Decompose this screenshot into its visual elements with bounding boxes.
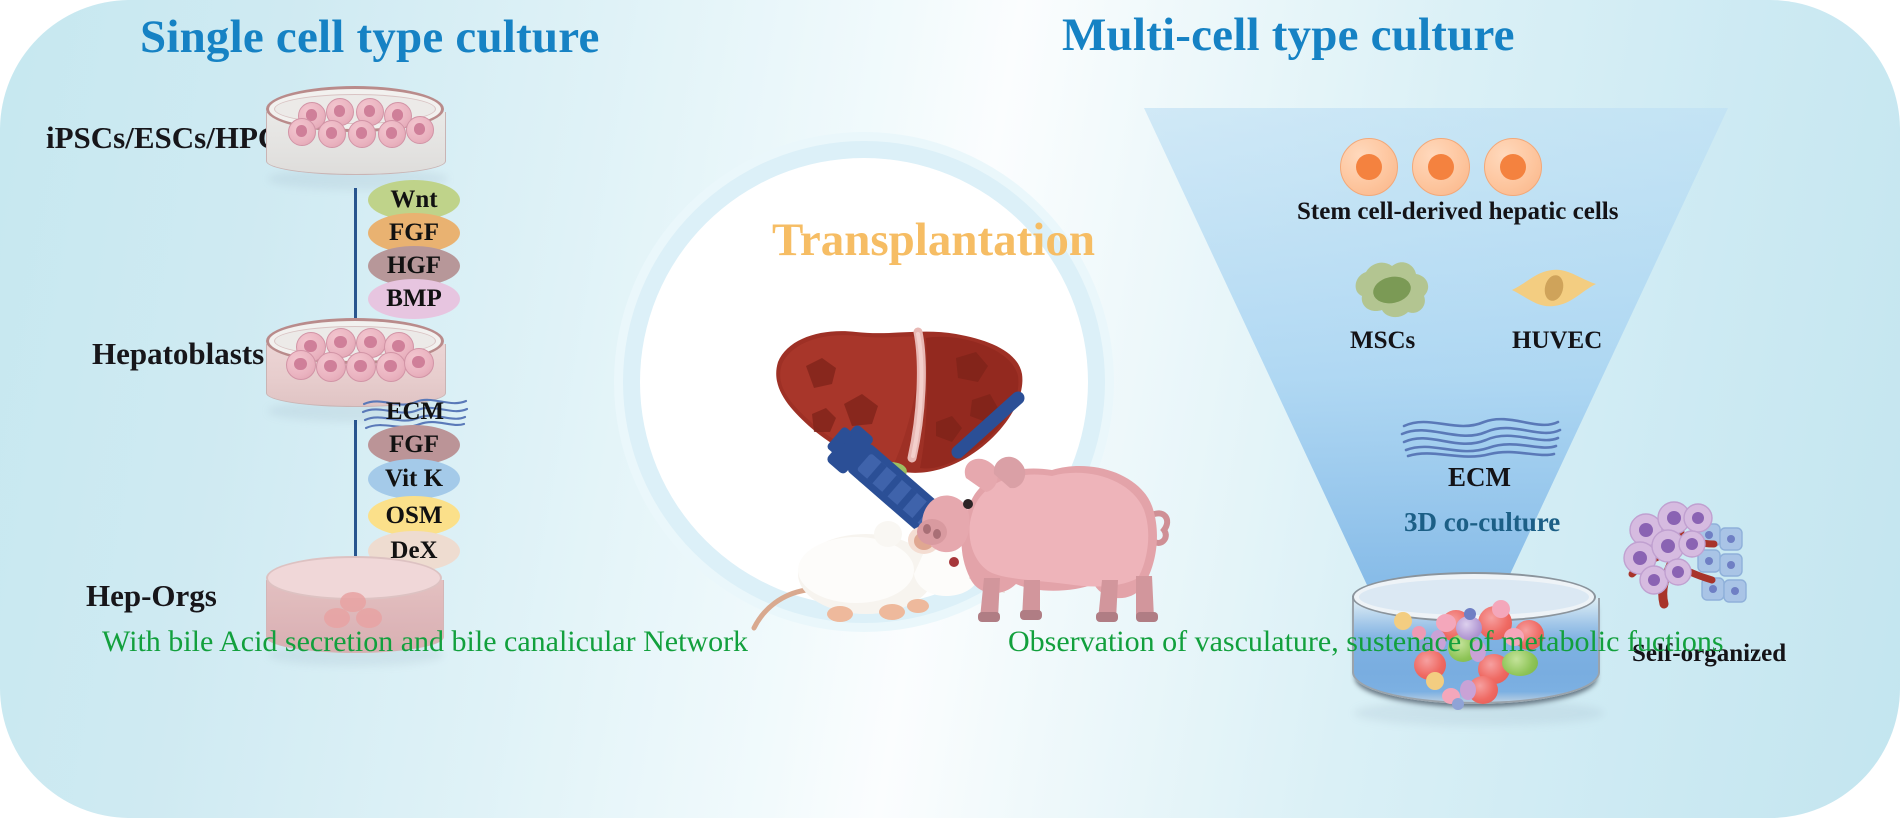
cell [404,348,434,378]
factor-label: ECM [386,398,444,426]
cell [348,120,376,148]
factor-label: HGF [387,252,441,280]
stem-cell-label: Stem cell-derived hepatic cells [1297,198,1618,226]
ecm-label: ECM [1448,462,1511,493]
transplantation-title: Transplantation [772,213,1095,267]
stem-cell [1484,138,1542,196]
ecm-fiber-icon-right [1398,410,1564,462]
self-organized-structure-icon [1620,500,1750,628]
mini-cell [1460,680,1476,700]
right-panel-caption: Observation of vasculature, sustenace of… [1008,625,1724,659]
factor-label: BMP [386,285,442,313]
mini-cell [1492,600,1510,618]
stage-label-ipsc: iPSCs/ESCs/HPCs [46,120,292,156]
factor-label: FGF [389,431,439,459]
factor-label: Wnt [390,186,437,214]
cell [318,120,346,148]
factor-label: OSM [386,502,443,530]
huvec-cell-icon [1508,262,1602,314]
cell [346,352,376,382]
mini-cell [1426,672,1444,690]
differentiation-arrow-1 [354,188,357,338]
factor-pill-osm[interactable]: OSM [368,496,460,536]
factor-label: FGF [389,219,439,247]
stage-label-hepatoblasts: Hepatoblasts [92,336,264,372]
left-panel-title: Single cell type culture [140,10,600,64]
factor-pill-vitk[interactable]: Vit K [368,459,460,499]
msc-cell-icon [1348,258,1434,320]
cell [288,118,316,146]
huvec-label: HUVEC [1512,327,1602,355]
stem-cell-dish [266,86,444,194]
stem-cell [1412,138,1470,196]
mini-cell [1452,698,1464,710]
cell [316,352,346,382]
factor-label: Vit K [385,465,443,493]
coculture-label: 3D co-culture [1404,507,1560,538]
left-panel-caption: With bile Acid secretion and bile canali… [102,625,748,659]
stage-label-hep-orgs: Hep-Orgs [86,578,217,614]
cell [376,352,406,382]
cell [378,120,406,148]
infographic-canvas: Single cell type culture Multi-cell type… [0,0,1900,818]
cell [406,116,434,144]
factor-pill-bmp[interactable]: BMP [368,279,460,319]
stem-cell [1340,138,1398,196]
mini-cell [1464,608,1476,620]
right-panel-title: Multi-cell type culture [1062,8,1515,62]
cell [286,350,316,380]
msc-label: MSCs [1350,327,1415,355]
differentiation-arrow-2 [354,420,357,572]
